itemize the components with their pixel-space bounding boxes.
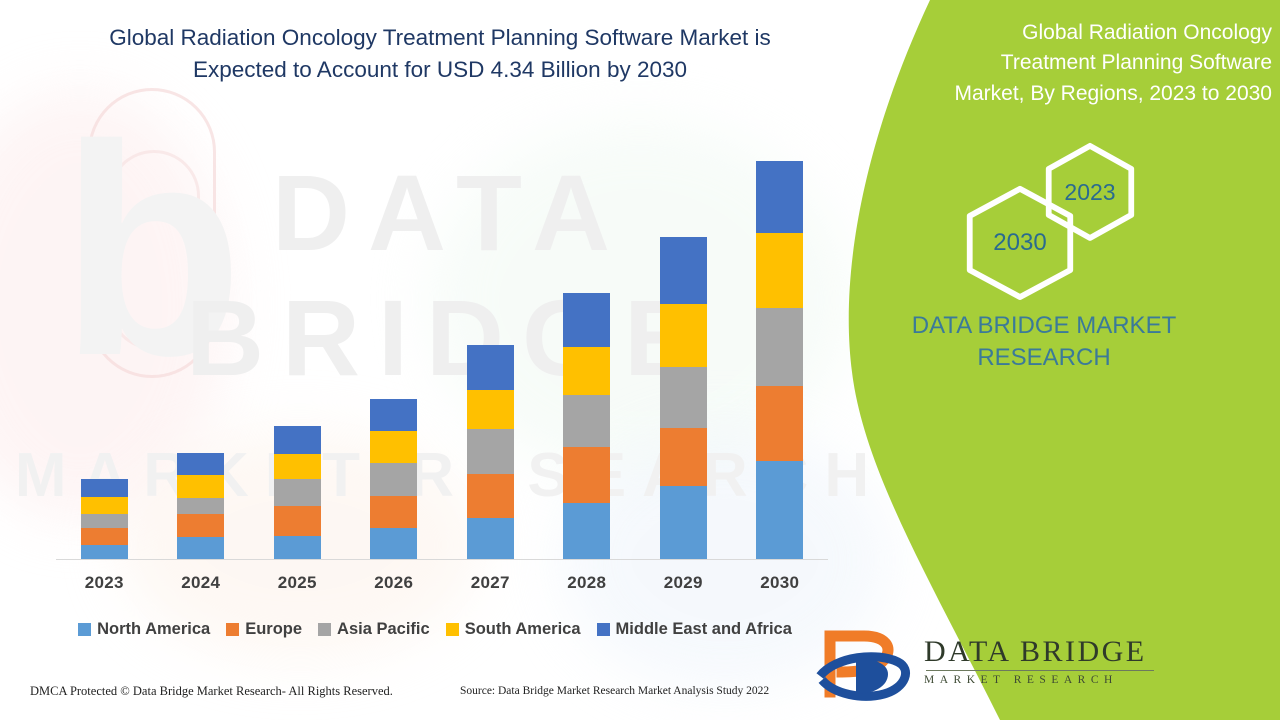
legend-label: Asia Pacific: [337, 620, 430, 639]
brand-name: DATA BRIDGE MARKET RESEARCH: [844, 310, 1244, 373]
legend-item: Asia Pacific: [318, 620, 430, 639]
bar-segment: [467, 390, 514, 429]
x-axis-line: [56, 559, 828, 560]
bar-segment: [370, 496, 417, 528]
bar-column: [442, 345, 538, 559]
bar-segment: [274, 454, 321, 479]
panel-title: Global Radiation Oncology Treatment Plan…: [942, 18, 1272, 109]
x-axis-label: 2025: [249, 573, 345, 593]
stacked-bar: [756, 161, 803, 559]
stacked-bar: [81, 479, 128, 559]
bar-segment: [370, 399, 417, 431]
chart-legend: North AmericaEuropeAsia PacificSouth Ame…: [40, 616, 830, 642]
footer-source: Source: Data Bridge Market Research Mark…: [460, 685, 769, 697]
bar-segment: [81, 497, 128, 514]
bar-segment: [563, 447, 610, 503]
green-panel-content: Global Radiation Oncology Treatment Plan…: [800, 0, 1280, 720]
stacked-bar: [563, 293, 610, 559]
bar-segment: [756, 461, 803, 559]
bar-segment: [467, 429, 514, 474]
bar-column: [56, 479, 152, 559]
logo-wordmark: DATA BRIDGE MARKET RESEARCH: [924, 636, 1254, 686]
bar-column: [539, 293, 635, 559]
legend-item: Europe: [226, 620, 302, 639]
stacked-bar: [467, 345, 514, 559]
bar-segment: [274, 536, 321, 559]
bar-segment: [660, 367, 707, 428]
bar-segment: [660, 428, 707, 486]
bar-column: [249, 426, 345, 559]
stacked-bar-group: [56, 110, 828, 559]
bar-segment: [660, 486, 707, 559]
bar-segment: [756, 386, 803, 461]
stacked-bar: [274, 426, 321, 559]
bar-column: [346, 399, 442, 559]
bar-segment: [81, 528, 128, 545]
bar-column: [635, 237, 731, 559]
legend-label: South America: [465, 620, 581, 639]
bar-segment: [81, 479, 128, 497]
hexagon-badge-2030: 2030: [962, 184, 1078, 302]
bar-segment: [177, 514, 224, 537]
infographic-root: b DATA BRIDGE MARKET RESEARCH Global Rad…: [0, 0, 1280, 720]
x-axis-label: 2024: [153, 573, 249, 593]
hexagon-badge-2023-label: 2023: [1064, 179, 1115, 206]
bar-segment: [563, 293, 610, 347]
x-axis-label: 2027: [442, 573, 538, 593]
legend-label: Europe: [245, 620, 302, 639]
company-logo: DATA BRIDGE MARKET RESEARCH: [812, 628, 1262, 702]
hexagon-badges: 2023 2030: [950, 140, 1180, 285]
legend-swatch-icon: [597, 623, 610, 636]
bar-segment: [660, 237, 707, 304]
legend-item: North America: [78, 620, 210, 639]
data-bridge-logo-mark: [812, 628, 924, 702]
chart-plot-area: [56, 110, 828, 560]
footer-copyright: DMCA Protected © Data Bridge Market Rese…: [30, 684, 393, 699]
bar-segment: [370, 463, 417, 496]
logo-tagline: MARKET RESEARCH: [924, 674, 1254, 686]
page-title: Global Radiation Oncology Treatment Plan…: [60, 22, 820, 86]
bridge-swoosh-icon: [812, 628, 924, 702]
legend-label: North America: [97, 620, 210, 639]
bar-segment: [81, 545, 128, 559]
legend-swatch-icon: [446, 623, 459, 636]
x-axis-label: 2028: [539, 573, 635, 593]
bar-segment: [274, 479, 321, 506]
bar-segment: [370, 431, 417, 463]
bar-column: [153, 453, 249, 559]
right-green-panel: Global Radiation Oncology Treatment Plan…: [800, 0, 1280, 720]
x-axis-label: 2026: [346, 573, 442, 593]
bar-segment: [81, 514, 128, 528]
bar-segment: [756, 308, 803, 386]
x-axis-label: 2029: [635, 573, 731, 593]
legend-label: Middle East and Africa: [616, 620, 792, 639]
x-axis-labels: 20232024202520262027202820292030: [56, 568, 828, 598]
logo-divider: [926, 670, 1154, 671]
bar-segment: [563, 503, 610, 559]
bar-segment: [563, 347, 610, 395]
x-axis-label: 2023: [56, 573, 152, 593]
hexagon-badge-2030-label: 2030: [993, 229, 1046, 257]
bar-segment: [274, 506, 321, 536]
bar-segment: [467, 474, 514, 518]
logo-name: DATA BRIDGE: [924, 636, 1254, 668]
bar-segment: [177, 475, 224, 498]
legend-swatch-icon: [78, 623, 91, 636]
legend-item: South America: [446, 620, 581, 639]
bar-segment: [177, 498, 224, 514]
bar-segment: [660, 304, 707, 367]
stacked-bar: [177, 453, 224, 559]
bar-segment: [370, 528, 417, 559]
stacked-bar: [660, 237, 707, 559]
legend-swatch-icon: [226, 623, 239, 636]
stacked-bar: [370, 399, 417, 559]
bar-segment: [274, 426, 321, 454]
bar-segment: [563, 395, 610, 447]
legend-swatch-icon: [318, 623, 331, 636]
bar-segment: [467, 518, 514, 559]
bar-segment: [467, 345, 514, 390]
bar-segment: [756, 161, 803, 233]
bar-segment: [177, 453, 224, 475]
bar-segment: [177, 537, 224, 559]
legend-item: Middle East and Africa: [597, 620, 792, 639]
bar-segment: [756, 233, 803, 308]
